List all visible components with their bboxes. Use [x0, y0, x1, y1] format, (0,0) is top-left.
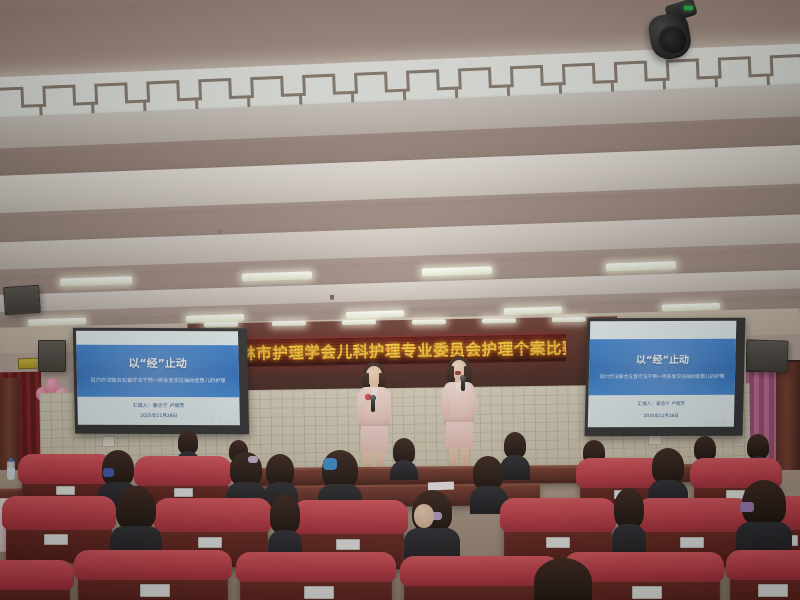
left-projection-screen[interactable]: 以“经”止动 耳穴疗法联合五音疗法干预一例多发交往抽动症患儿的护理 汇报人：姜念… [73, 328, 249, 435]
seat-r1-1[interactable] [0, 564, 68, 600]
hair-clip [248, 456, 258, 463]
seat-tag [140, 584, 170, 597]
auditorium-photo: 桂林市护理学会儿科护理专业委员会护理个案比赛 以“经”止动 耳穴疗法联合五音疗法… [0, 0, 800, 600]
sprinkler-head-3 [330, 295, 334, 300]
seat-tag [44, 534, 68, 545]
hair-clip [103, 468, 114, 477]
seat-r1-3[interactable] [240, 556, 390, 600]
seat-r1-2[interactable] [78, 554, 226, 600]
right-projection-screen[interactable]: 以“经”止动 耳穴疗法联合五音疗法干预一例多发交往抽动症患儿的护理 汇报人：姜念… [585, 318, 746, 437]
exit-sign [18, 358, 40, 370]
presenter-left-skirt [361, 426, 388, 454]
left-wall-speaker [3, 285, 41, 315]
left-wall-panel [38, 340, 66, 372]
hair-ribbon [323, 458, 337, 470]
seat-r1-4[interactable] [404, 560, 554, 600]
right-wall-speaker [745, 339, 788, 372]
spotlight-status-led [684, 6, 693, 10]
moving-head-spotlight [640, 2, 716, 64]
wall-outlet-2 [102, 436, 115, 447]
seat-tag [758, 584, 788, 597]
presenter-right [434, 356, 482, 466]
attendee-far-3 [390, 438, 418, 476]
seat-tag [336, 539, 360, 550]
seat-tag [56, 486, 75, 495]
seat-tag [546, 537, 570, 548]
seat-tag [304, 586, 334, 599]
hair-clip [740, 502, 754, 512]
presenter-right-skirt [446, 422, 473, 450]
seat-tag [174, 488, 193, 497]
seat-r1-6[interactable] [730, 554, 800, 600]
water-bottle-3 [7, 458, 15, 480]
seat-tag [198, 537, 222, 548]
led-event-banner: 桂林市护理学会儿科护理专业委员会护理个案比赛 [236, 333, 566, 367]
attendee-r1-a [534, 558, 596, 600]
seat-tag [680, 537, 704, 548]
seat-tag [632, 586, 662, 599]
